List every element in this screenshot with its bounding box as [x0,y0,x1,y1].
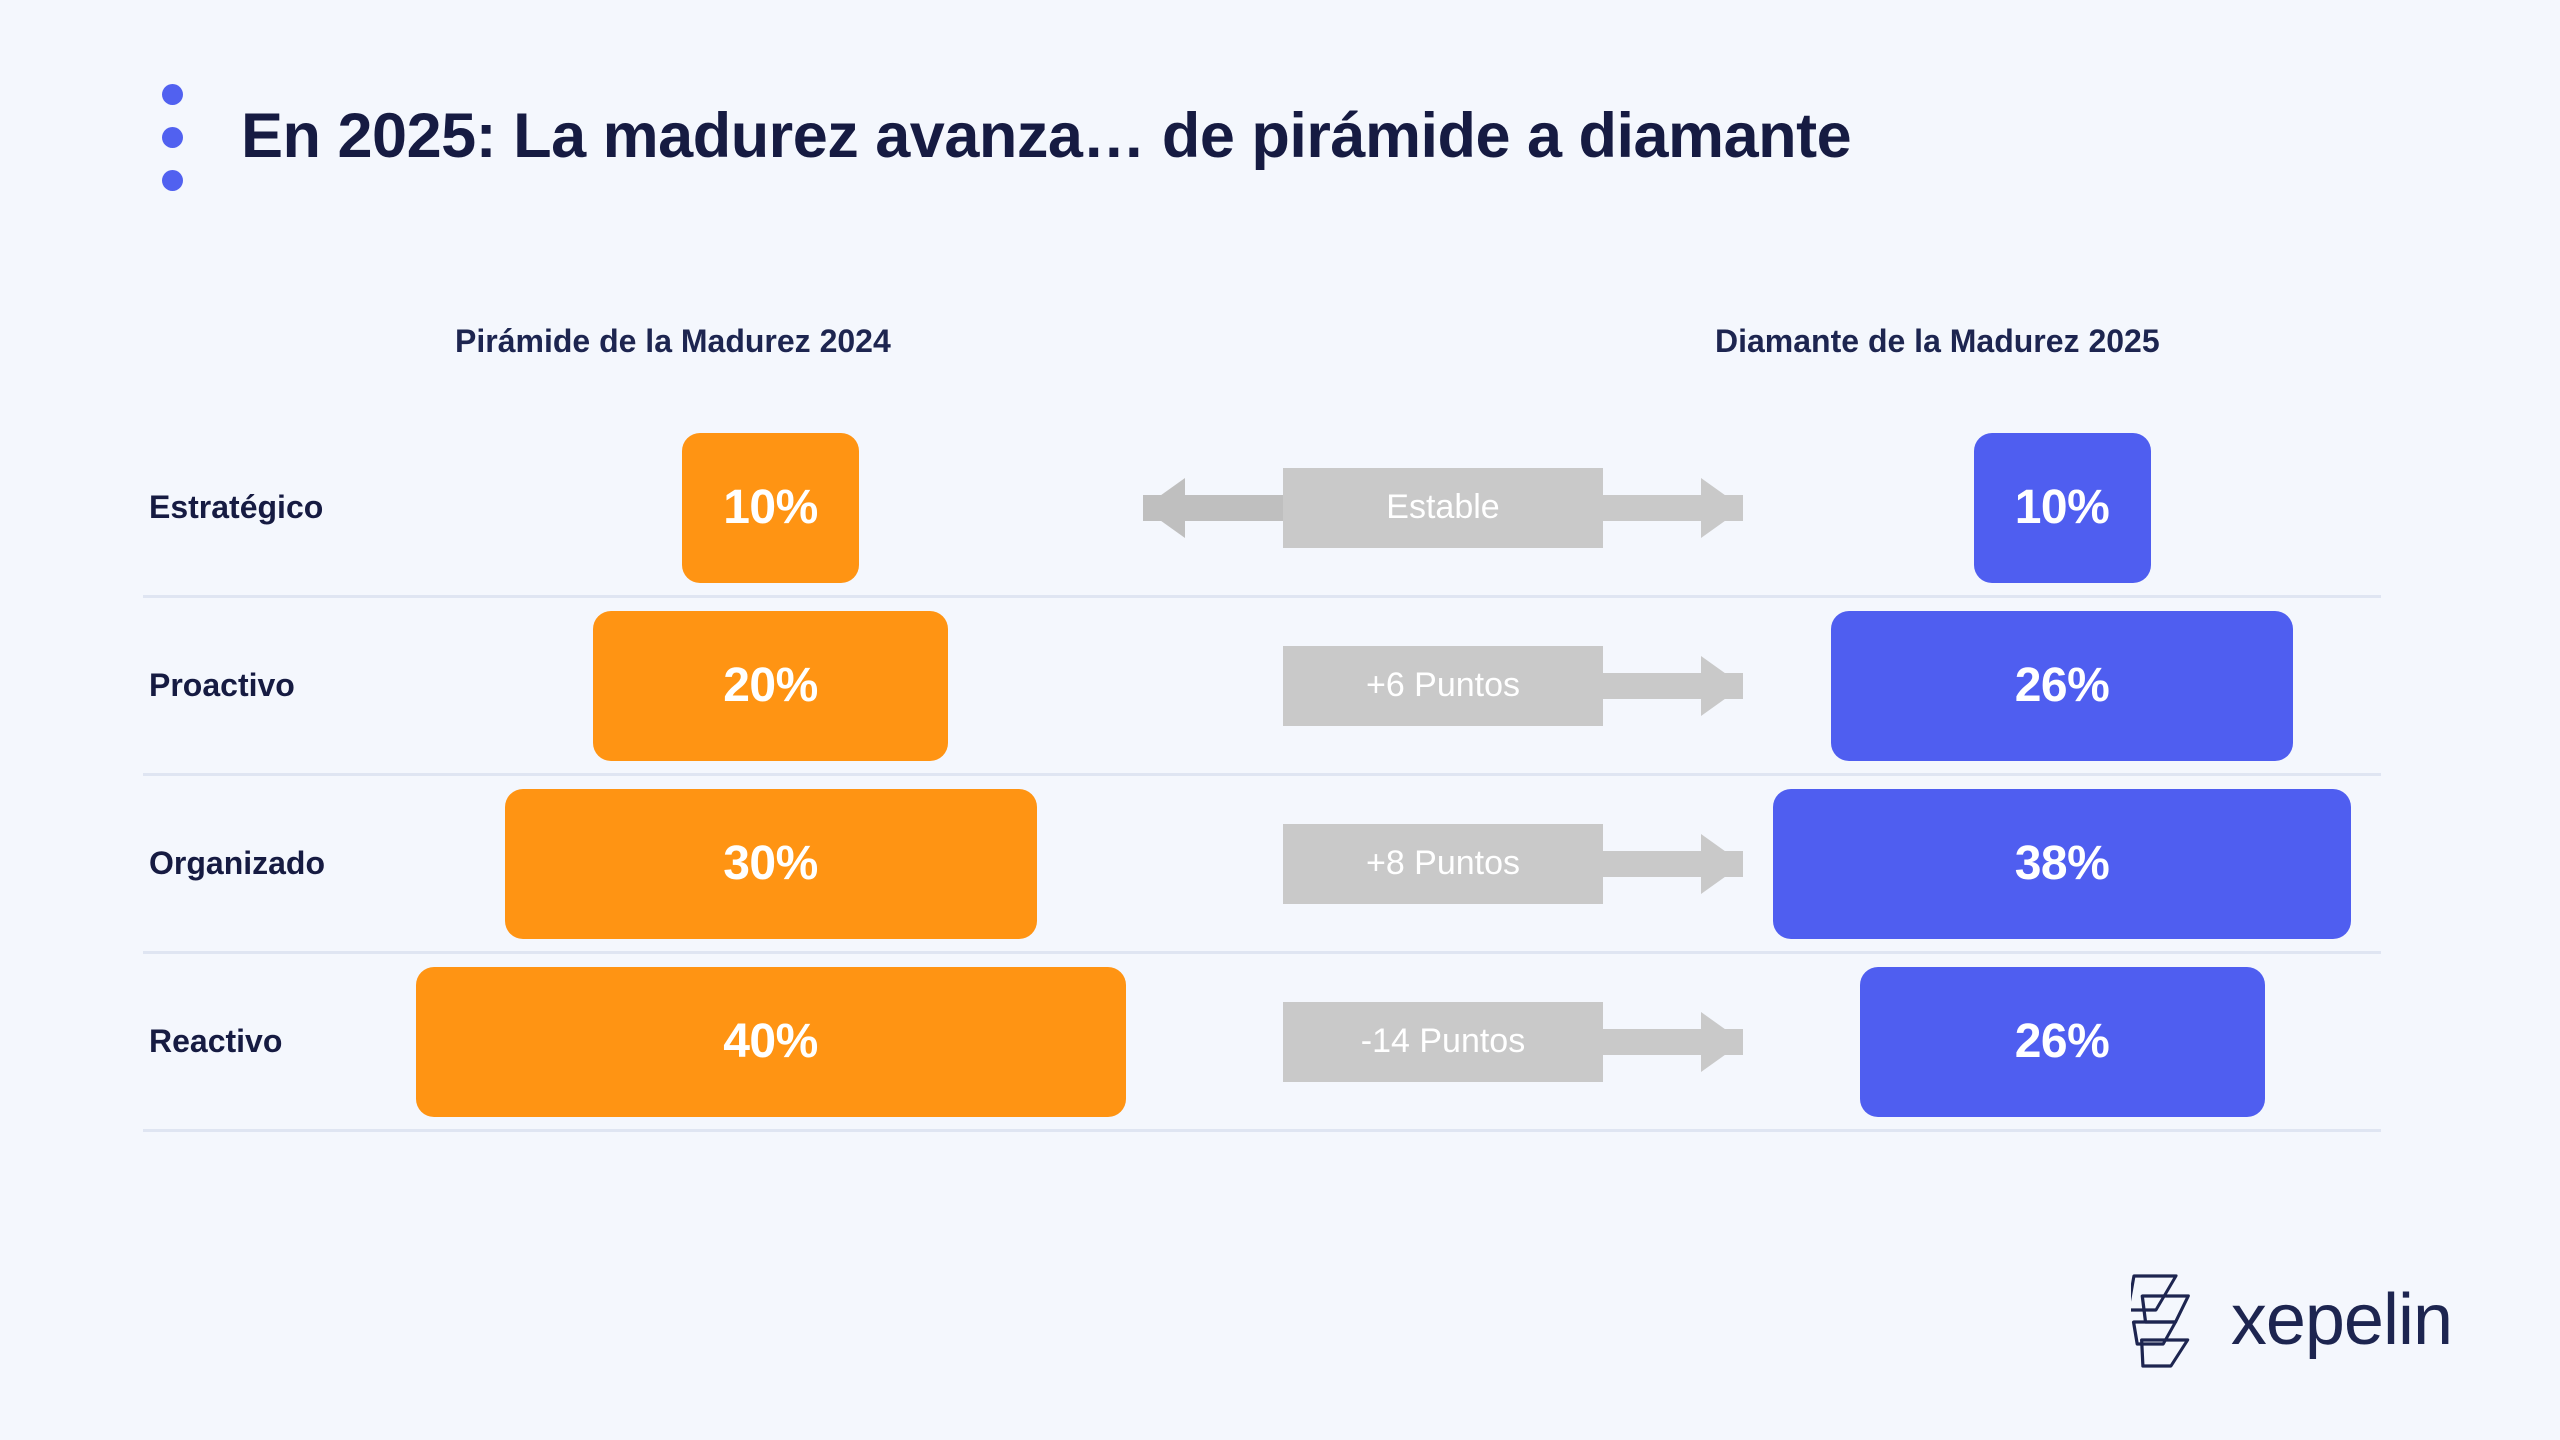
slide-canvas: En 2025: La madurez avanza… de pirámide … [0,0,2560,1440]
bar-2024: 20% [593,611,948,761]
change-indicator-cell: -14 Puntos [1143,1002,1743,1082]
arrow-head-right-icon [1701,1012,1743,1072]
pyramid-bar-cell: 20% [398,611,1143,761]
change-arrow-group: +6 Puntos [1143,646,1743,726]
dot-icon [162,84,183,105]
arrow-head-right-icon [1701,834,1743,894]
bar-2024: 40% [416,967,1126,1117]
change-indicator-cell: +6 Puntos [1143,646,1743,726]
pyramid-bar-cell: 30% [398,789,1143,939]
bar-2025: 26% [1860,967,2265,1117]
brand-name: xepelin [2231,1284,2452,1356]
change-label: -14 Puntos [1283,1002,1603,1082]
table-row: Organizado 30% +8 Puntos 38% [143,776,2381,954]
diamond-bar-cell: 26% [1743,611,2381,761]
bar-2025: 26% [1831,611,2293,761]
table-row: Reactivo 40% -14 Puntos 26% [143,954,2381,1132]
brand-logo: xepelin [2131,1270,2452,1370]
arrow-head-right-icon [1701,656,1743,716]
change-indicator-cell: Estable [1143,468,1743,548]
row-label: Proactivo [143,667,398,704]
arrow-head-right-icon [1701,478,1743,538]
dot-icon [162,170,183,191]
column-header-2025: Diamante de la Madurez 2025 [1715,323,2160,360]
diamond-bar-cell: 10% [1743,433,2381,583]
column-header-2024: Pirámide de la Madurez 2024 [455,323,891,360]
dot-icon [162,127,183,148]
diamond-bar-cell: 26% [1743,967,2381,1117]
arrow-head-left-icon [1143,478,1185,538]
bar-2025: 38% [1773,789,2351,939]
page-title: En 2025: La madurez avanza… de pirámide … [241,103,1851,169]
change-arrow-group: +8 Puntos [1143,824,1743,904]
row-label: Estratégico [143,489,398,526]
bar-2024: 10% [682,433,859,583]
bar-2025: 10% [1974,433,2151,583]
row-label: Organizado [143,845,398,882]
row-label: Reactivo [143,1023,398,1060]
pyramid-bar-cell: 10% [398,433,1143,583]
change-arrow-group: Estable [1143,468,1743,548]
change-label: Estable [1283,468,1603,548]
table-row: Estratégico 10% Estable 10% [143,420,2381,598]
change-arrow-group: -14 Puntos [1143,1002,1743,1082]
dot-decoration-icon [162,82,183,191]
pyramid-bar-cell: 40% [398,967,1143,1117]
table-row: Proactivo 20% +6 Puntos 26% [143,598,2381,776]
maturity-comparison-table: Estratégico 10% Estable 10% Proactivo [143,420,2381,1132]
change-indicator-cell: +8 Puntos [1143,824,1743,904]
xepelin-mark-icon [2131,1270,2209,1370]
title-block: En 2025: La madurez avanza… de pirámide … [162,82,1851,191]
change-label: +8 Puntos [1283,824,1603,904]
change-label: +6 Puntos [1283,646,1603,726]
diamond-bar-cell: 38% [1743,789,2381,939]
bar-2024: 30% [505,789,1037,939]
